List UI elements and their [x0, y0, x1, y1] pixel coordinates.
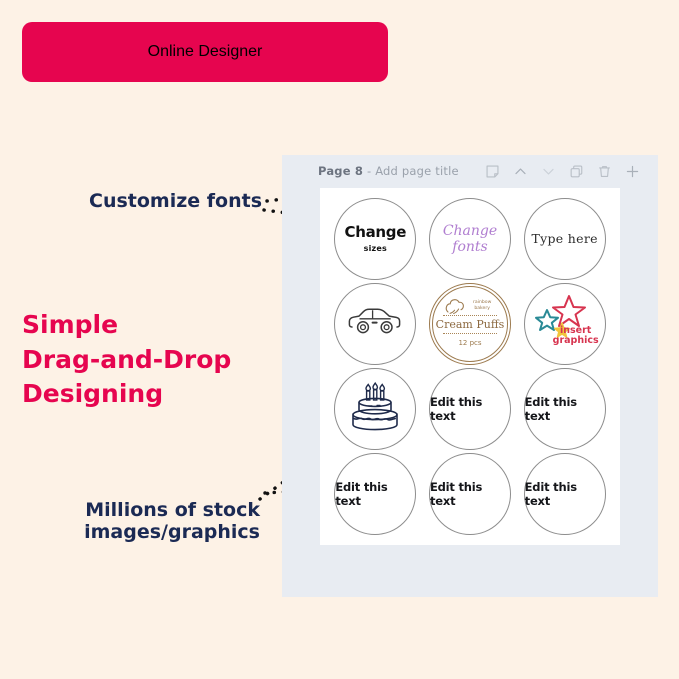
page-number-label: Page 8 — [318, 164, 363, 178]
duplicate-icon[interactable] — [569, 164, 584, 179]
change-fonts-secondary-text: fonts — [452, 239, 487, 255]
label-circle-edit-1[interactable]: Edit this text — [429, 368, 511, 450]
grid-cell — [328, 281, 423, 366]
sticker-divider-bottom — [443, 333, 497, 334]
header-banner: Online Designer — [22, 22, 388, 82]
label-circle-car-graphic[interactable] — [334, 283, 416, 365]
grid-cell: insert graphics — [517, 281, 612, 366]
label-circle-cream-puffs[interactable]: rainbow bakery Cream Puffs 12 pcs — [429, 283, 511, 365]
change-sizes-secondary-text: sizes — [364, 244, 387, 253]
plus-icon[interactable] — [625, 164, 640, 179]
grid-cell: Edit this text — [423, 452, 518, 537]
label-circle-edit-2[interactable]: Edit this text — [524, 368, 606, 450]
grid-cell: Edit this text — [423, 367, 518, 452]
page-title: Online Designer — [148, 43, 263, 61]
chevron-up-icon[interactable] — [513, 164, 528, 179]
edit-text-1: Edit this text — [430, 395, 510, 423]
sticker-quantity: 12 pcs — [431, 339, 509, 347]
page-title-separator: - — [363, 164, 375, 178]
label-circle-cake-graphic[interactable] — [334, 368, 416, 450]
label-circle-type-here[interactable]: Type here — [524, 198, 606, 280]
edit-text-5: Edit this text — [525, 480, 605, 508]
label-circle-grid: Change sizes Change fonts Type here — [328, 196, 612, 537]
sticker-brand: rainbow bakery — [473, 300, 491, 311]
toolbar-icon-group — [485, 164, 640, 179]
sticker-divider-top — [443, 315, 497, 316]
grid-cell: Edit this text — [517, 367, 612, 452]
page-indicator[interactable]: Page 8 - Add page title — [318, 164, 459, 178]
label-circle-edit-4[interactable]: Edit this text — [429, 453, 511, 535]
grid-cell: Edit this text — [517, 452, 612, 537]
type-here-text: Type here — [532, 231, 598, 246]
design-page-canvas[interactable]: Change sizes Change fonts Type here — [320, 188, 620, 545]
grid-cell: Change sizes — [328, 196, 423, 281]
grid-cell: Edit this text — [328, 452, 423, 537]
designer-panel: Page 8 - Add page title — [282, 155, 658, 597]
grid-cell: Type here — [517, 196, 612, 281]
cream-puffs-sticker: rainbow bakery Cream Puffs 12 pcs — [431, 285, 509, 363]
annotation-drag-and-drop: Simple Drag-and-Drop Designing — [22, 308, 262, 412]
sticker-brand-line2: bakery — [473, 306, 491, 312]
sticker-brand-line1: rainbow — [473, 300, 491, 306]
grid-cell — [328, 367, 423, 452]
chevron-down-icon[interactable] — [541, 164, 556, 179]
sticker-product-name: Cream Puffs — [431, 318, 509, 331]
annotation-stock-images: Millions of stock images/graphics — [78, 499, 260, 544]
label-circle-change-fonts[interactable]: Change fonts — [429, 198, 511, 280]
sticky-note-icon[interactable] — [485, 164, 500, 179]
change-fonts-primary-text: Change — [443, 223, 497, 239]
label-circle-insert-graphics[interactable]: insert graphics — [524, 283, 606, 365]
page-title-placeholder[interactable]: Add page title — [375, 164, 459, 178]
insert-graphics-line2: graphics — [553, 336, 599, 347]
insert-graphics-caption: insert graphics — [553, 326, 599, 347]
birthday-cake-icon — [346, 380, 404, 439]
grid-cell: rainbow bakery Cream Puffs 12 pcs — [423, 281, 518, 366]
label-circle-edit-5[interactable]: Edit this text — [524, 453, 606, 535]
annotation-customize-fonts: Customize fonts — [89, 190, 262, 212]
designer-toolbar: Page 8 - Add page title — [282, 155, 658, 187]
edit-text-3: Edit this text — [335, 480, 415, 508]
edit-text-2: Edit this text — [525, 395, 605, 423]
edit-text-4: Edit this text — [430, 480, 510, 508]
grid-cell: Change fonts — [423, 196, 518, 281]
change-sizes-primary-text: Change — [345, 225, 407, 240]
label-circle-change-sizes[interactable]: Change sizes — [334, 198, 416, 280]
label-circle-edit-3[interactable]: Edit this text — [334, 453, 416, 535]
car-icon — [347, 303, 403, 344]
trash-icon[interactable] — [597, 164, 612, 179]
